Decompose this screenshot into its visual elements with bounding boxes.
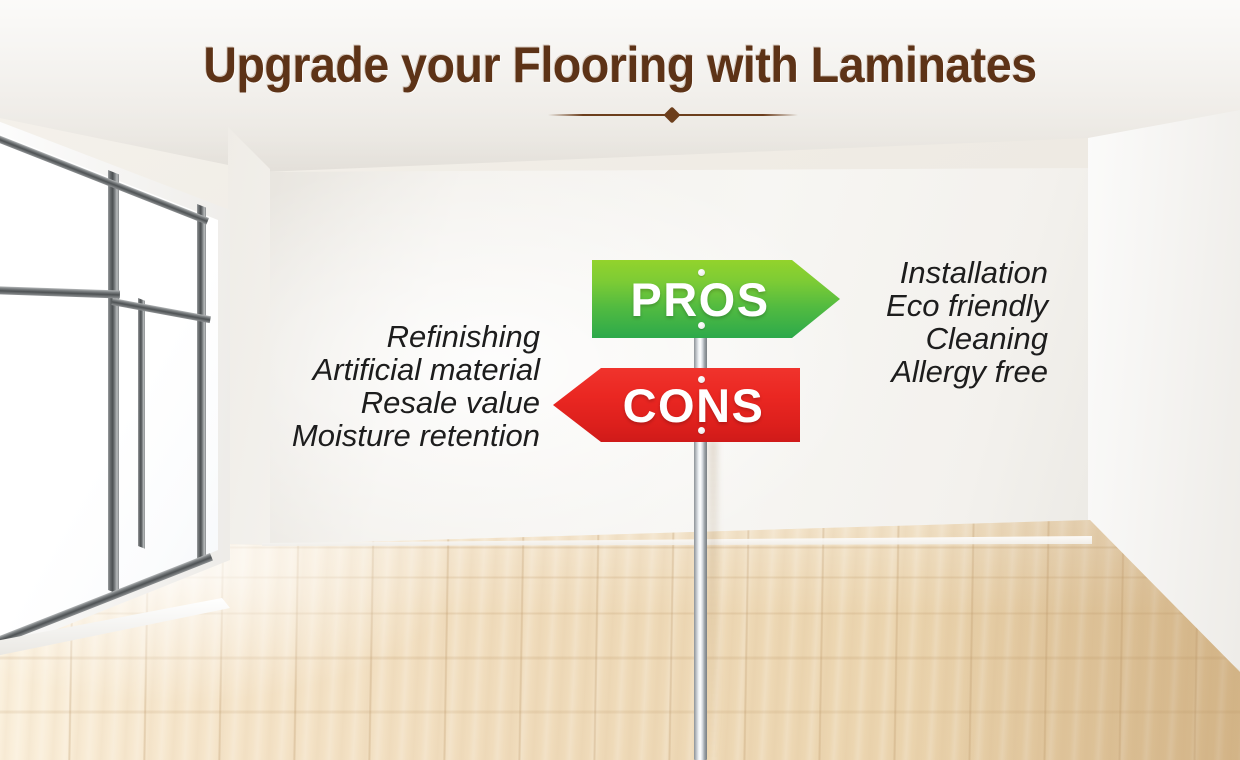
pros-list-item-3: Cleaning — [700, 322, 1048, 355]
pros-screw-top-icon — [698, 269, 705, 276]
pros-screw-bottom-icon — [698, 322, 705, 329]
cons-list-item-3: Resale value — [0, 386, 540, 419]
pros-list-item-4: Allergy free — [700, 355, 1048, 388]
cons-screw-bottom-icon — [698, 427, 705, 434]
page-title: Upgrade your Flooring with Laminates — [43, 36, 1196, 94]
cons-list: Refinishing Artificial material Resale v… — [0, 320, 540, 452]
cons-list-item-4: Moisture retention — [0, 419, 540, 452]
divider-diamond-icon — [664, 107, 681, 124]
infographic-scene: Upgrade your Flooring with Laminates PRO… — [0, 0, 1240, 760]
cons-list-item-2: Artificial material — [0, 353, 540, 386]
pros-list-item-2: Eco friendly — [700, 289, 1048, 322]
cons-screw-top-icon — [698, 376, 705, 383]
title-divider — [548, 108, 798, 122]
cons-list-item-1: Refinishing — [0, 320, 540, 353]
pros-list-item-1: Installation — [700, 256, 1048, 289]
pros-list: Installation Eco friendly Cleaning Aller… — [700, 256, 1048, 388]
pole-shadow — [708, 440, 718, 760]
